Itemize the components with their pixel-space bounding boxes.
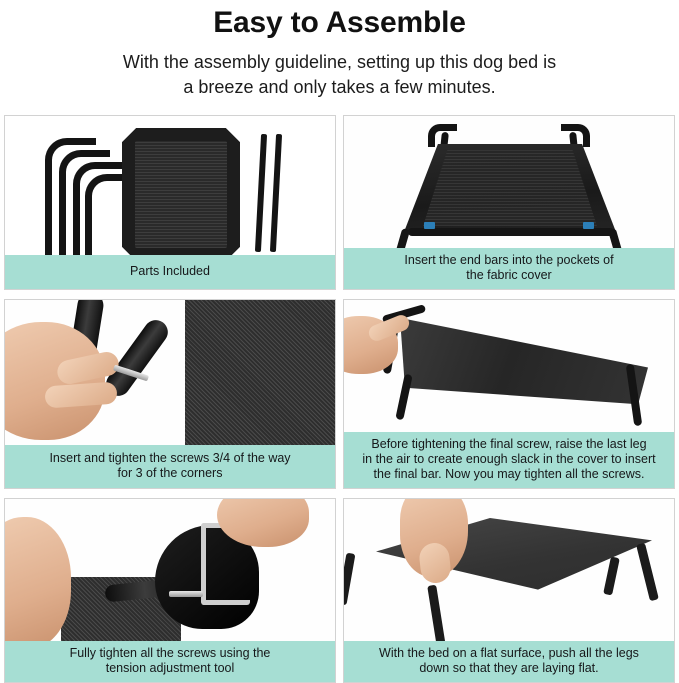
step-4-caption-line-2: in the air to create enough slack in the…	[350, 452, 668, 467]
page-title: Easy to Assemble	[0, 4, 679, 42]
finger-index	[44, 382, 117, 409]
leg-front-left	[344, 553, 355, 606]
step-6-image	[344, 499, 674, 641]
fabric-cover	[404, 144, 616, 232]
step-6-caption-line-1: With the bed on a flat surface, push all…	[350, 646, 668, 661]
page-subtitle: With the assembly guideline, setting up …	[0, 50, 679, 100]
step-5-caption-line-1: Fully tighten all the screws using the	[11, 646, 329, 661]
step-2-caption: Insert the end bars into the pockets of …	[344, 248, 674, 289]
screw	[169, 591, 203, 597]
step-1-caption-line-1: Parts Included	[11, 264, 329, 279]
step-panel-3: Insert and tighten the screws 3/4 of the…	[4, 299, 336, 489]
fabric-cover-part	[122, 128, 240, 255]
step-5-caption: Fully tighten all the screws using the t…	[5, 641, 335, 682]
leg-standing-left	[395, 374, 412, 421]
cover-notch	[226, 247, 254, 255]
step-3-caption-line-1: Insert and tighten the screws 3/4 of the…	[11, 451, 329, 466]
step-panel-4: Before tightening the final screw, raise…	[343, 299, 675, 489]
step-panel-6: With the bed on a flat surface, push all…	[343, 498, 675, 683]
step-2-image	[344, 116, 674, 248]
step-6-caption: With the bed on a flat surface, push all…	[344, 641, 674, 682]
bed-surface	[352, 509, 652, 621]
leg-front-center	[427, 585, 446, 641]
leg-front-right	[608, 228, 628, 248]
leg-rear-left	[603, 556, 620, 595]
steps-grid: Parts Included Insert the en	[4, 115, 675, 683]
step-1-image	[5, 116, 335, 255]
leg-rear-right	[636, 543, 659, 601]
blue-tag-left	[424, 222, 435, 229]
step-5-image	[5, 499, 335, 641]
hand-left	[5, 517, 71, 641]
straight-bar-part-1	[255, 134, 267, 252]
step-4-image	[344, 300, 674, 432]
subtitle-line-2: a breeze and only takes a few minutes.	[0, 75, 679, 100]
leg-front-left	[390, 228, 410, 248]
step-3-image	[5, 300, 335, 445]
blue-tag-right	[583, 222, 594, 229]
subtitle-line-1: With the assembly guideline, setting up …	[0, 50, 679, 75]
cover-notch	[226, 116, 254, 142]
step-3-caption: Insert and tighten the screws 3/4 of the…	[5, 445, 335, 488]
step-4-caption-line-1: Before tightening the final screw, raise…	[350, 437, 668, 452]
fabric-cover	[400, 316, 648, 408]
step-1-caption: Parts Included	[5, 255, 335, 289]
cover-notch	[108, 116, 136, 142]
step-4-caption: Before tightening the final screw, raise…	[344, 432, 674, 488]
step-panel-2: Insert the end bars into the pockets of …	[343, 115, 675, 290]
step-panel-1: Parts Included	[4, 115, 336, 290]
step-3-caption-line-2: for 3 of the corners	[11, 466, 329, 481]
step-2-caption-line-1: Insert the end bars into the pockets of	[350, 253, 668, 268]
straight-bar-part-2	[270, 134, 282, 252]
header: Easy to Assemble With the assembly guide…	[0, 0, 679, 100]
hand	[5, 322, 105, 440]
step-panel-5: Fully tighten all the screws using the t…	[4, 498, 336, 683]
assembly-infographic: Easy to Assemble With the assembly guide…	[0, 0, 679, 674]
step-2-caption-line-2: the fabric cover	[350, 268, 668, 283]
front-rail	[408, 228, 614, 236]
step-4-caption-line-3: the final bar. Now you may tighten all t…	[350, 467, 668, 482]
mesh-fabric	[185, 300, 335, 445]
